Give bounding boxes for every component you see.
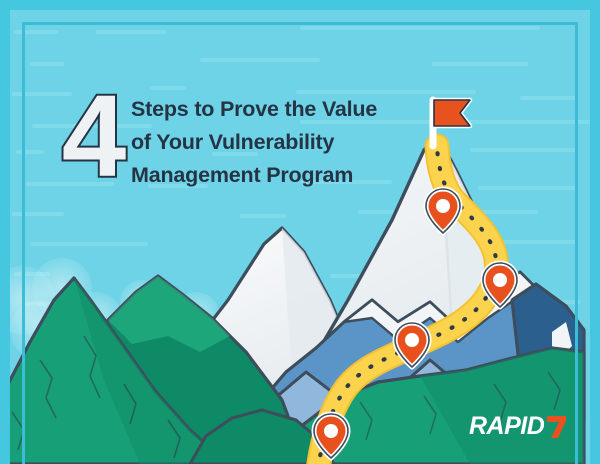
rapid7-seven-mark	[545, 415, 567, 439]
rapid7-wordmark: RAPID	[469, 414, 544, 439]
page-title: Steps to Prove the Value of Your Vulnera…	[131, 93, 431, 192]
step-count-numeral: 4	[48, 84, 140, 196]
title-line-2: of Your Vulnerability	[131, 126, 431, 159]
title-line-1: Steps to Prove the Value	[131, 93, 431, 126]
rapid7-logo: RAPID	[469, 414, 567, 439]
numeral-glyph: 4	[48, 84, 140, 196]
infographic-canvas: 4 Steps to Prove the Value of Your Vulne…	[0, 0, 600, 464]
mountain-scene	[0, 0, 600, 464]
title-line-3: Management Program	[131, 159, 431, 192]
